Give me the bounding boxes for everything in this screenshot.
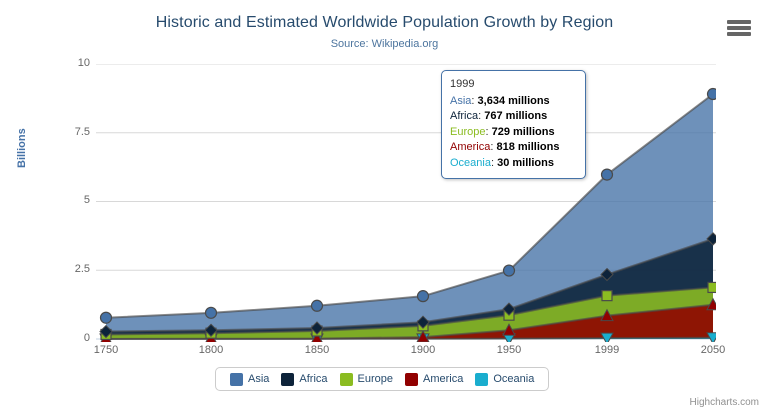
legend-item-africa[interactable]: Africa: [281, 373, 327, 386]
data-point-asia-1900[interactable]: [418, 291, 429, 302]
x-tick-1850: 1850: [282, 344, 352, 356]
chart-title: Historic and Estimated Worldwide Populat…: [0, 14, 769, 32]
tooltip-series-name: Oceania: [450, 157, 491, 169]
data-point-asia-1850[interactable]: [312, 300, 323, 311]
tooltip-series-value: 818 millions: [496, 141, 559, 153]
legend-item-europe[interactable]: Europe: [340, 373, 393, 386]
data-point-asia-1800[interactable]: [206, 307, 217, 318]
legend-label: Oceania: [493, 373, 534, 385]
tooltip-series-name: America: [450, 141, 490, 153]
x-tick-1999: 1999: [572, 344, 642, 356]
tooltip-series-value: 30 millions: [497, 157, 554, 169]
y-tick-0: 0: [30, 333, 90, 344]
y-tick-7.5: 7.5: [30, 127, 90, 138]
x-tick-1800: 1800: [176, 344, 246, 356]
menu-bar-2: [727, 26, 751, 30]
x-tick-1750: 1750: [71, 344, 141, 356]
data-point-asia-1750[interactable]: [101, 312, 112, 323]
tooltip-row: Africa: 767 millions: [450, 109, 577, 125]
legend-item-america[interactable]: America: [405, 373, 463, 386]
legend-swatch-icon: [405, 373, 418, 386]
menu-bar-1: [727, 20, 751, 24]
legend-label: Europe: [358, 373, 393, 385]
legend-swatch-icon: [281, 373, 294, 386]
plot-area: [96, 64, 716, 339]
menu-bar-3: [727, 32, 751, 36]
tooltip-series-value: 767 millions: [484, 110, 547, 122]
hamburger-menu-icon[interactable]: [727, 18, 753, 38]
legend-item-asia[interactable]: Asia: [230, 373, 269, 386]
legend: AsiaAfricaEuropeAmericaOceania: [215, 367, 549, 391]
tooltip-series-name: Europe: [450, 126, 485, 138]
legend-item-oceania[interactable]: Oceania: [475, 373, 534, 386]
tooltip-series-value: 3,634 millions: [478, 95, 550, 107]
data-point-europe-2050[interactable]: [708, 282, 716, 292]
tooltip: 1999 Asia: 3,634 millionsAfrica: 767 mil…: [441, 70, 586, 179]
x-tick-2050: 2050: [678, 344, 748, 356]
legend-label: America: [423, 373, 463, 385]
tooltip-row: Oceania: 30 millions: [450, 156, 577, 172]
tooltip-row: Europe: 729 millions: [450, 125, 577, 141]
tooltip-series-value: 729 millions: [492, 126, 555, 138]
x-tick-1950: 1950: [474, 344, 544, 356]
x-tick-1900: 1900: [388, 344, 458, 356]
tooltip-row: Asia: 3,634 millions: [450, 94, 577, 110]
chart-container: Historic and Estimated Worldwide Populat…: [0, 0, 769, 416]
tooltip-series-name: Asia: [450, 95, 471, 107]
tooltip-rows: Asia: 3,634 millionsAfrica: 767 millions…: [450, 94, 577, 172]
credits-link[interactable]: Highcharts.com: [690, 397, 759, 408]
tooltip-series-name: Africa: [450, 110, 478, 122]
legend-swatch-icon: [475, 373, 488, 386]
y-tick-5: 5: [30, 195, 90, 206]
stacked-area-plot: [96, 64, 716, 342]
y-tick-10: 10: [30, 58, 90, 69]
y-tick-2.5: 2.5: [30, 264, 90, 275]
legend-label: Asia: [248, 373, 269, 385]
legend-label: Africa: [299, 373, 327, 385]
tooltip-header: 1999: [450, 77, 577, 93]
tooltip-row: America: 818 millions: [450, 140, 577, 156]
data-point-asia-2050[interactable]: [708, 89, 717, 100]
chart-subtitle: Source: Wikipedia.org: [0, 38, 769, 50]
legend-swatch-icon: [230, 373, 243, 386]
data-point-asia-1950[interactable]: [504, 265, 515, 276]
legend-swatch-icon: [340, 373, 353, 386]
